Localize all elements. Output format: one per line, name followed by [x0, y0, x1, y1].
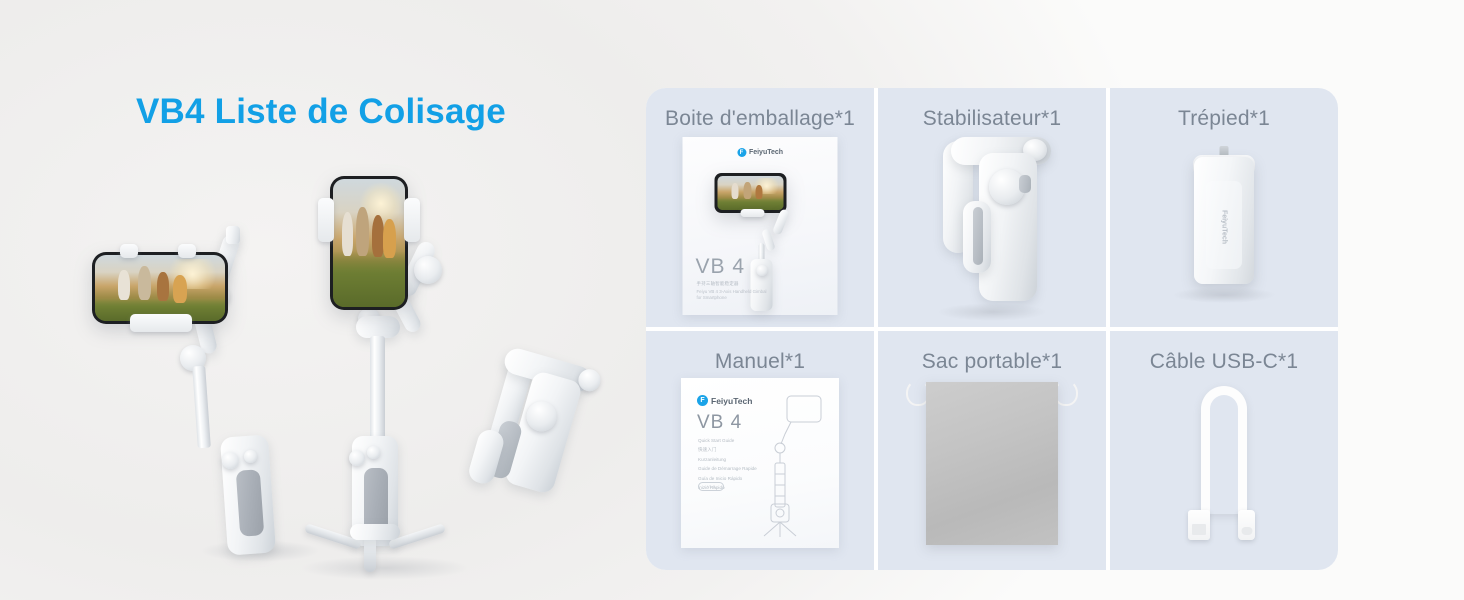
base-motor: [356, 316, 400, 338]
usb-a-contact: [1192, 524, 1206, 535]
packing-item-label: Boite d'emballage*1: [665, 107, 855, 131]
clamp-top-left: [120, 244, 138, 258]
packing-item-box[interactable]: Boite d'emballage*1 F FeiyuTech: [646, 88, 874, 327]
grip: [236, 469, 265, 537]
trigger-wheel: [222, 452, 239, 469]
figure-silhouette: [732, 183, 739, 199]
packing-item-image: [1110, 374, 1338, 570]
ground-shadow: [300, 556, 470, 580]
sun-glow: [163, 259, 223, 289]
manual-line-art: [757, 392, 831, 540]
usb-c-connector: [1238, 510, 1255, 540]
folded-gimbal-artwork: [907, 135, 1077, 315]
packing-item-manual[interactable]: Manuel*1 F FeiyuTech VB 4 Quick Start Gu…: [646, 331, 874, 570]
brand-mark-icon: F: [737, 148, 746, 157]
feiyutech-logo: F FeiyuTech: [737, 148, 783, 157]
figure-silhouette: [173, 275, 187, 303]
tilt-joint: [226, 226, 240, 244]
packing-item-label: Manuel*1: [715, 350, 805, 374]
packing-item-tripod[interactable]: Trépied*1 FeiyuTech: [1110, 88, 1338, 327]
joystick: [367, 446, 380, 459]
grass-foreground: [333, 251, 405, 307]
packing-item-cable[interactable]: Câble USB-C*1: [1110, 331, 1338, 570]
figure-silhouette: [383, 219, 396, 259]
figure-silhouette: [372, 215, 384, 257]
feiyutech-logo: F FeiyuTech: [697, 395, 752, 406]
joystick: [244, 450, 257, 463]
tripod-leg-center: [364, 536, 376, 572]
phone-screen: [95, 255, 225, 321]
packing-item-image: F FeiyuTech VB 4 Quick Start Guide 快速入门 …: [646, 374, 874, 570]
product-shadow: [937, 303, 1047, 321]
packing-item-label: Câble USB-C*1: [1150, 350, 1299, 374]
box-subtitle-en: Feiyu VB 4 3-Axis Handheld Gimbal for Sm…: [697, 289, 767, 302]
hero-gimbal-folded: [139, 0, 745, 47]
clamp-right: [404, 198, 420, 242]
trigger-wheel: [349, 450, 365, 466]
phone-screen: [333, 179, 405, 307]
box-dial: [756, 265, 767, 276]
packing-list-panel: Boite d'emballage*1 F FeiyuTech: [646, 88, 1338, 570]
brand-name: FeiyuTech: [711, 396, 752, 406]
box-phone: [714, 173, 786, 213]
figure-silhouette: [118, 270, 130, 300]
roll-motor: [414, 256, 442, 284]
box-phone-screen: [717, 176, 783, 210]
manual-model-text: VB 4: [697, 412, 742, 434]
product-shadow: [1172, 287, 1276, 303]
box-model-text: VB 4: [696, 255, 746, 279]
packing-item-label: Sac portable*1: [922, 350, 1063, 374]
packing-item-stabilizer[interactable]: Stabilisateur*1: [878, 88, 1106, 327]
packing-item-label: Trépied*1: [1178, 107, 1270, 131]
telescopic-rod: [192, 366, 211, 449]
tripod-hub: [350, 524, 400, 540]
box-subtitle-cn: 手持三轴智能稳定器: [697, 281, 739, 287]
usb-a-connector: [1188, 510, 1210, 540]
packing-item-image: [878, 374, 1106, 570]
hero-product-images: [0, 0, 630, 600]
tripod-brand-text: FeiyuTech: [1221, 210, 1228, 244]
clamp-left: [318, 198, 334, 242]
figure-silhouette: [138, 266, 151, 300]
packing-item-image: [878, 131, 1106, 327]
manual-version-badge: V1.0: [698, 482, 724, 491]
packing-item-pouch[interactable]: Sac portable*1: [878, 331, 1106, 570]
manual-artwork: F FeiyuTech VB 4 Quick Start Guide 快速入门 …: [681, 378, 839, 548]
telescopic-rod: [370, 336, 385, 442]
figure-silhouette: [342, 212, 354, 256]
usb-cable-artwork: [1201, 386, 1247, 514]
clamp-shade: [973, 207, 983, 265]
brand-name: FeiyuTech: [749, 149, 783, 156]
clamp-top-right: [178, 244, 196, 258]
box-clamp: [740, 209, 764, 217]
folded-tripod-artwork: FeiyuTech: [1194, 157, 1254, 284]
packing-item-label: Stabilisateur*1: [923, 107, 1061, 131]
packing-item-image: F FeiyuTech: [646, 131, 874, 327]
clamp-bottom: [130, 314, 192, 332]
tripod-panel: FeiyuTech: [1206, 181, 1242, 269]
packing-item-image: FeiyuTech: [1110, 131, 1338, 327]
brand-mark-icon: F: [697, 395, 708, 406]
side-button: [1019, 175, 1031, 193]
figure-silhouette: [743, 182, 751, 199]
figure-silhouette: [356, 207, 369, 256]
drawstring-pouch-artwork: [926, 382, 1058, 545]
retail-box-artwork: F FeiyuTech: [683, 137, 838, 315]
figure-silhouette: [755, 185, 762, 199]
usb-c-contact: [1241, 527, 1252, 535]
phone-portrait: [330, 176, 408, 310]
figure-silhouette: [157, 272, 169, 301]
